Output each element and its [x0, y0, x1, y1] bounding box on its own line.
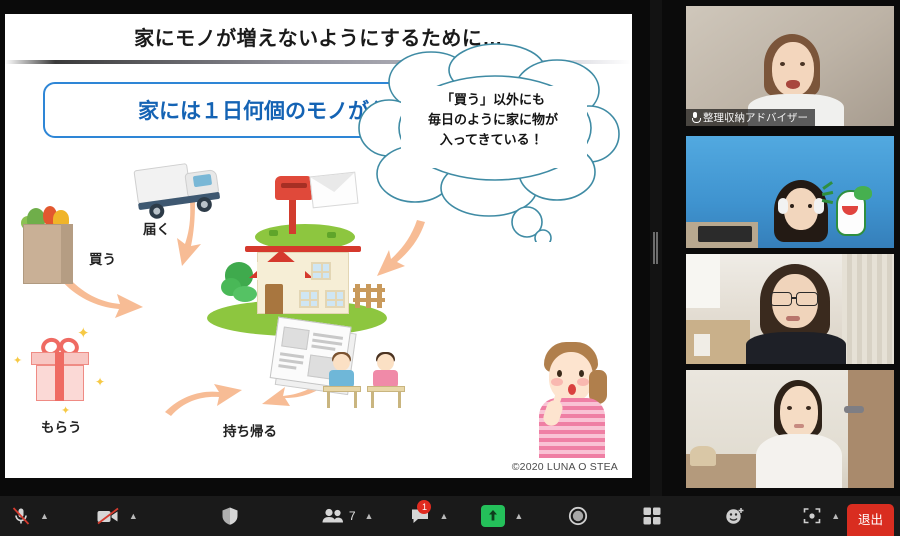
label-bring-home: 持ち帰る [223, 420, 277, 440]
breakout-rooms-icon [642, 506, 662, 526]
record-button[interactable] [563, 496, 593, 536]
video-button[interactable] [91, 496, 125, 536]
reactions-icon [724, 506, 746, 526]
bubble-line-1: 「買う」以外にも [395, 90, 591, 110]
participants-count: 7 [349, 509, 356, 523]
record-icon [568, 506, 588, 526]
focus-mode-icon [802, 506, 822, 526]
participants-icon [321, 508, 345, 524]
participant-video-1 [686, 6, 894, 126]
label-buy: 買う [89, 248, 116, 268]
participant-tile-2[interactable] [686, 136, 894, 248]
meeting-toolbar[interactable]: ▲ ▲ 7 ▲ [0, 496, 900, 536]
copyright-notice: ©2020 LUNA O STEA [512, 461, 618, 473]
gift-box-illustration [29, 334, 99, 406]
chat-caret-icon[interactable]: ▲ [435, 512, 452, 521]
microphone-muted-icon [11, 506, 31, 526]
focus-caret-icon[interactable]: ▲ [827, 512, 844, 521]
security-button[interactable] [216, 496, 244, 536]
participant-name-tag-1: 整理収納アドバイザー [686, 109, 815, 126]
participant-name-1: 整理収納アドバイザー [703, 110, 808, 125]
thought-bubble: 「買う」以外にも 毎日のように家に物が 入ってきている ！ [357, 42, 627, 242]
bubble-line-3: 入ってきている ！ [395, 130, 591, 150]
zoom-meeting-window: 家にモノが増えないようにするために… 家には１日何個のモノが入ってくる？ [0, 0, 900, 536]
shared-screen-area[interactable]: 家にモノが増えないようにするために… 家には１日何個のモノが入ってくる？ [0, 0, 660, 496]
leave-meeting-button[interactable]: 退出 [847, 504, 894, 536]
label-deliver: 届く [143, 218, 170, 238]
focus-mode-button[interactable] [797, 496, 827, 536]
participant-video-4 [686, 370, 894, 488]
participant-video-2 [686, 136, 894, 248]
participants-button[interactable]: 7 [316, 496, 361, 536]
chat-button[interactable]: 1 [405, 496, 435, 536]
participants-filmstrip[interactable]: 整理収納アドバイザー [662, 0, 900, 496]
thought-bubble-text: 「買う」以外にも 毎日のように家に物が 入ってきている ！ [395, 90, 591, 150]
splitter-grip-icon[interactable] [653, 232, 659, 264]
students-illustration [323, 354, 409, 416]
breakout-rooms-button[interactable] [637, 496, 667, 536]
participant-tile-3[interactable] [686, 254, 894, 364]
share-caret-icon[interactable]: ▲ [510, 512, 527, 521]
panel-splitter[interactable] [650, 0, 662, 496]
participant-video-3 [686, 254, 894, 364]
bubble-line-2: 毎日のように家に物が [395, 110, 591, 130]
video-options-caret-icon[interactable]: ▲ [125, 512, 142, 521]
shield-icon [221, 506, 239, 526]
grocery-bag-illustration [19, 206, 77, 284]
share-screen-button[interactable] [476, 496, 510, 536]
participants-caret-icon[interactable]: ▲ [361, 512, 378, 521]
participant-tile-4[interactable] [686, 370, 894, 488]
girl-thinking-illustration [533, 340, 615, 458]
reactions-button[interactable] [719, 496, 751, 536]
audio-options-caret-icon[interactable]: ▲ [36, 512, 53, 521]
mute-button[interactable] [6, 496, 36, 536]
label-receive: もらう [41, 416, 82, 436]
share-screen-icon [481, 505, 505, 527]
presentation-slide: 家にモノが増えないようにするために… 家には１日何個のモノが入ってくる？ [5, 14, 632, 478]
participant-tile-1[interactable]: 整理収納アドバイザー [686, 6, 894, 126]
video-off-icon [96, 507, 120, 525]
mic-icon [691, 112, 699, 123]
